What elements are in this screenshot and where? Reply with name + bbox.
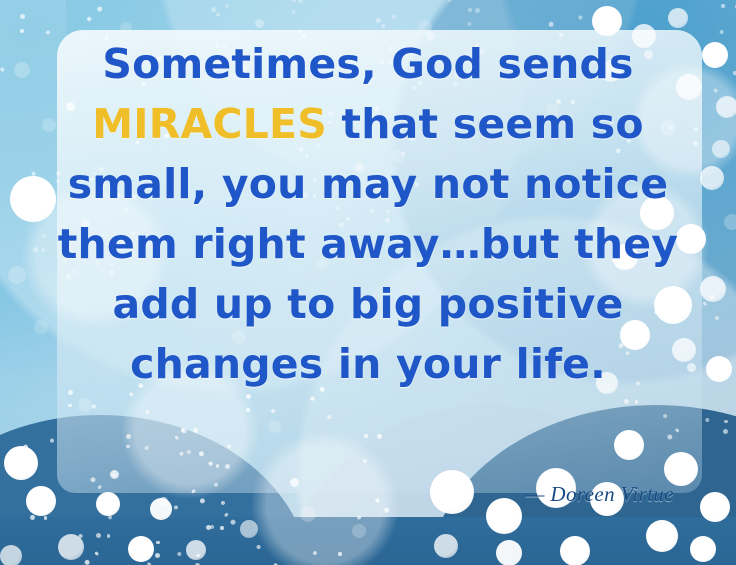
bokeh-circle bbox=[486, 498, 522, 534]
quote-line-6-text: changes in your life. bbox=[130, 340, 606, 388]
bokeh-circle bbox=[128, 536, 154, 562]
quote-line-4: them right away…but they bbox=[36, 214, 700, 274]
quote-line-3: small, you may not notice bbox=[36, 154, 700, 214]
quote-line-6: changes in your life. bbox=[36, 334, 700, 394]
bokeh-circle bbox=[700, 492, 730, 522]
quote-poster: Sometimes, God sendsMIRACLES that seem s… bbox=[0, 0, 736, 565]
quote-line-1: Sometimes, God sends bbox=[36, 34, 700, 94]
bokeh-circle bbox=[26, 486, 56, 516]
background-bottom-band bbox=[0, 517, 736, 565]
quote-line-1-text: Sometimes, God sends bbox=[102, 40, 633, 88]
bokeh-circle bbox=[496, 540, 522, 565]
quote-line-4-text: them right away…but they bbox=[58, 220, 678, 268]
bokeh-circle bbox=[0, 545, 22, 565]
quote-attribution: — Doreen Virtue bbox=[526, 482, 674, 507]
bokeh-circle bbox=[96, 492, 120, 516]
bokeh-circle bbox=[646, 520, 678, 552]
bokeh-circle bbox=[560, 536, 590, 565]
bokeh-circle bbox=[150, 498, 172, 520]
bokeh-circle bbox=[352, 524, 366, 538]
bokeh-circle bbox=[4, 446, 38, 480]
bokeh-circle bbox=[240, 520, 258, 538]
quote-line-2: MIRACLES that seem so bbox=[36, 94, 700, 154]
bokeh-circle bbox=[690, 536, 716, 562]
quote-line-5: add up to big positive bbox=[36, 274, 700, 334]
bokeh-circle bbox=[434, 534, 458, 558]
quote-text: Sometimes, God sendsMIRACLES that seem s… bbox=[0, 34, 736, 394]
quote-line-2-text-post: that seem so bbox=[327, 100, 644, 148]
quote-highlight-word: MIRACLES bbox=[92, 100, 327, 148]
bokeh-circle bbox=[58, 534, 84, 560]
bokeh-circle bbox=[300, 506, 316, 522]
bokeh-circle bbox=[668, 8, 688, 28]
quote-line-5-text: add up to big positive bbox=[112, 280, 623, 328]
quote-line-3-text: small, you may not notice bbox=[68, 160, 669, 208]
bokeh-circle bbox=[186, 540, 206, 560]
